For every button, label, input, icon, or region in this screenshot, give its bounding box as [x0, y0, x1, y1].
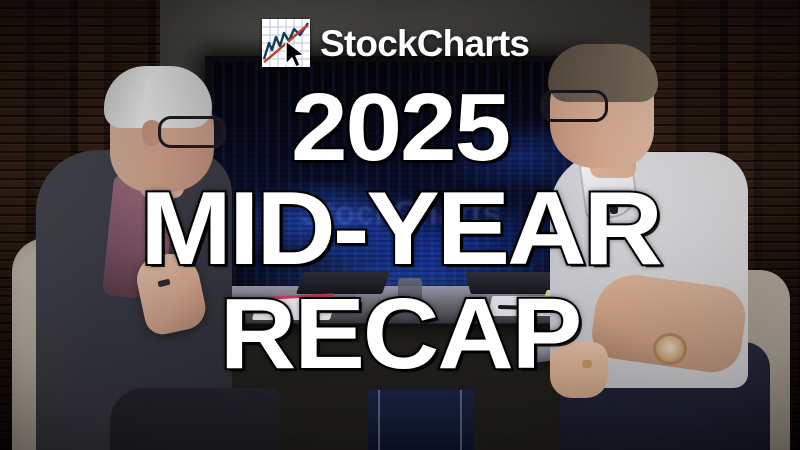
host-left-legs [110, 388, 280, 450]
host-left [0, 58, 270, 450]
desk-base-panel [368, 390, 474, 450]
host-right-watch [656, 336, 684, 362]
stockcharts-wordmark: StockCharts [320, 25, 529, 62]
lapel-mic-icon [610, 196, 618, 214]
studio-scene: StockCharts [0, 0, 800, 450]
host-left-glasses [158, 116, 226, 148]
desk-laptop-left [296, 272, 390, 294]
stockcharts-logo: StockCharts [262, 19, 529, 67]
video-thumbnail: StockCharts [0, 0, 800, 450]
host-right-glasses [540, 90, 608, 122]
stock-chart-cursor-icon [262, 19, 310, 67]
host-right-hand [550, 342, 608, 398]
host-right [504, 42, 800, 450]
desk-mug [398, 278, 422, 304]
host-right-ring [582, 360, 592, 368]
